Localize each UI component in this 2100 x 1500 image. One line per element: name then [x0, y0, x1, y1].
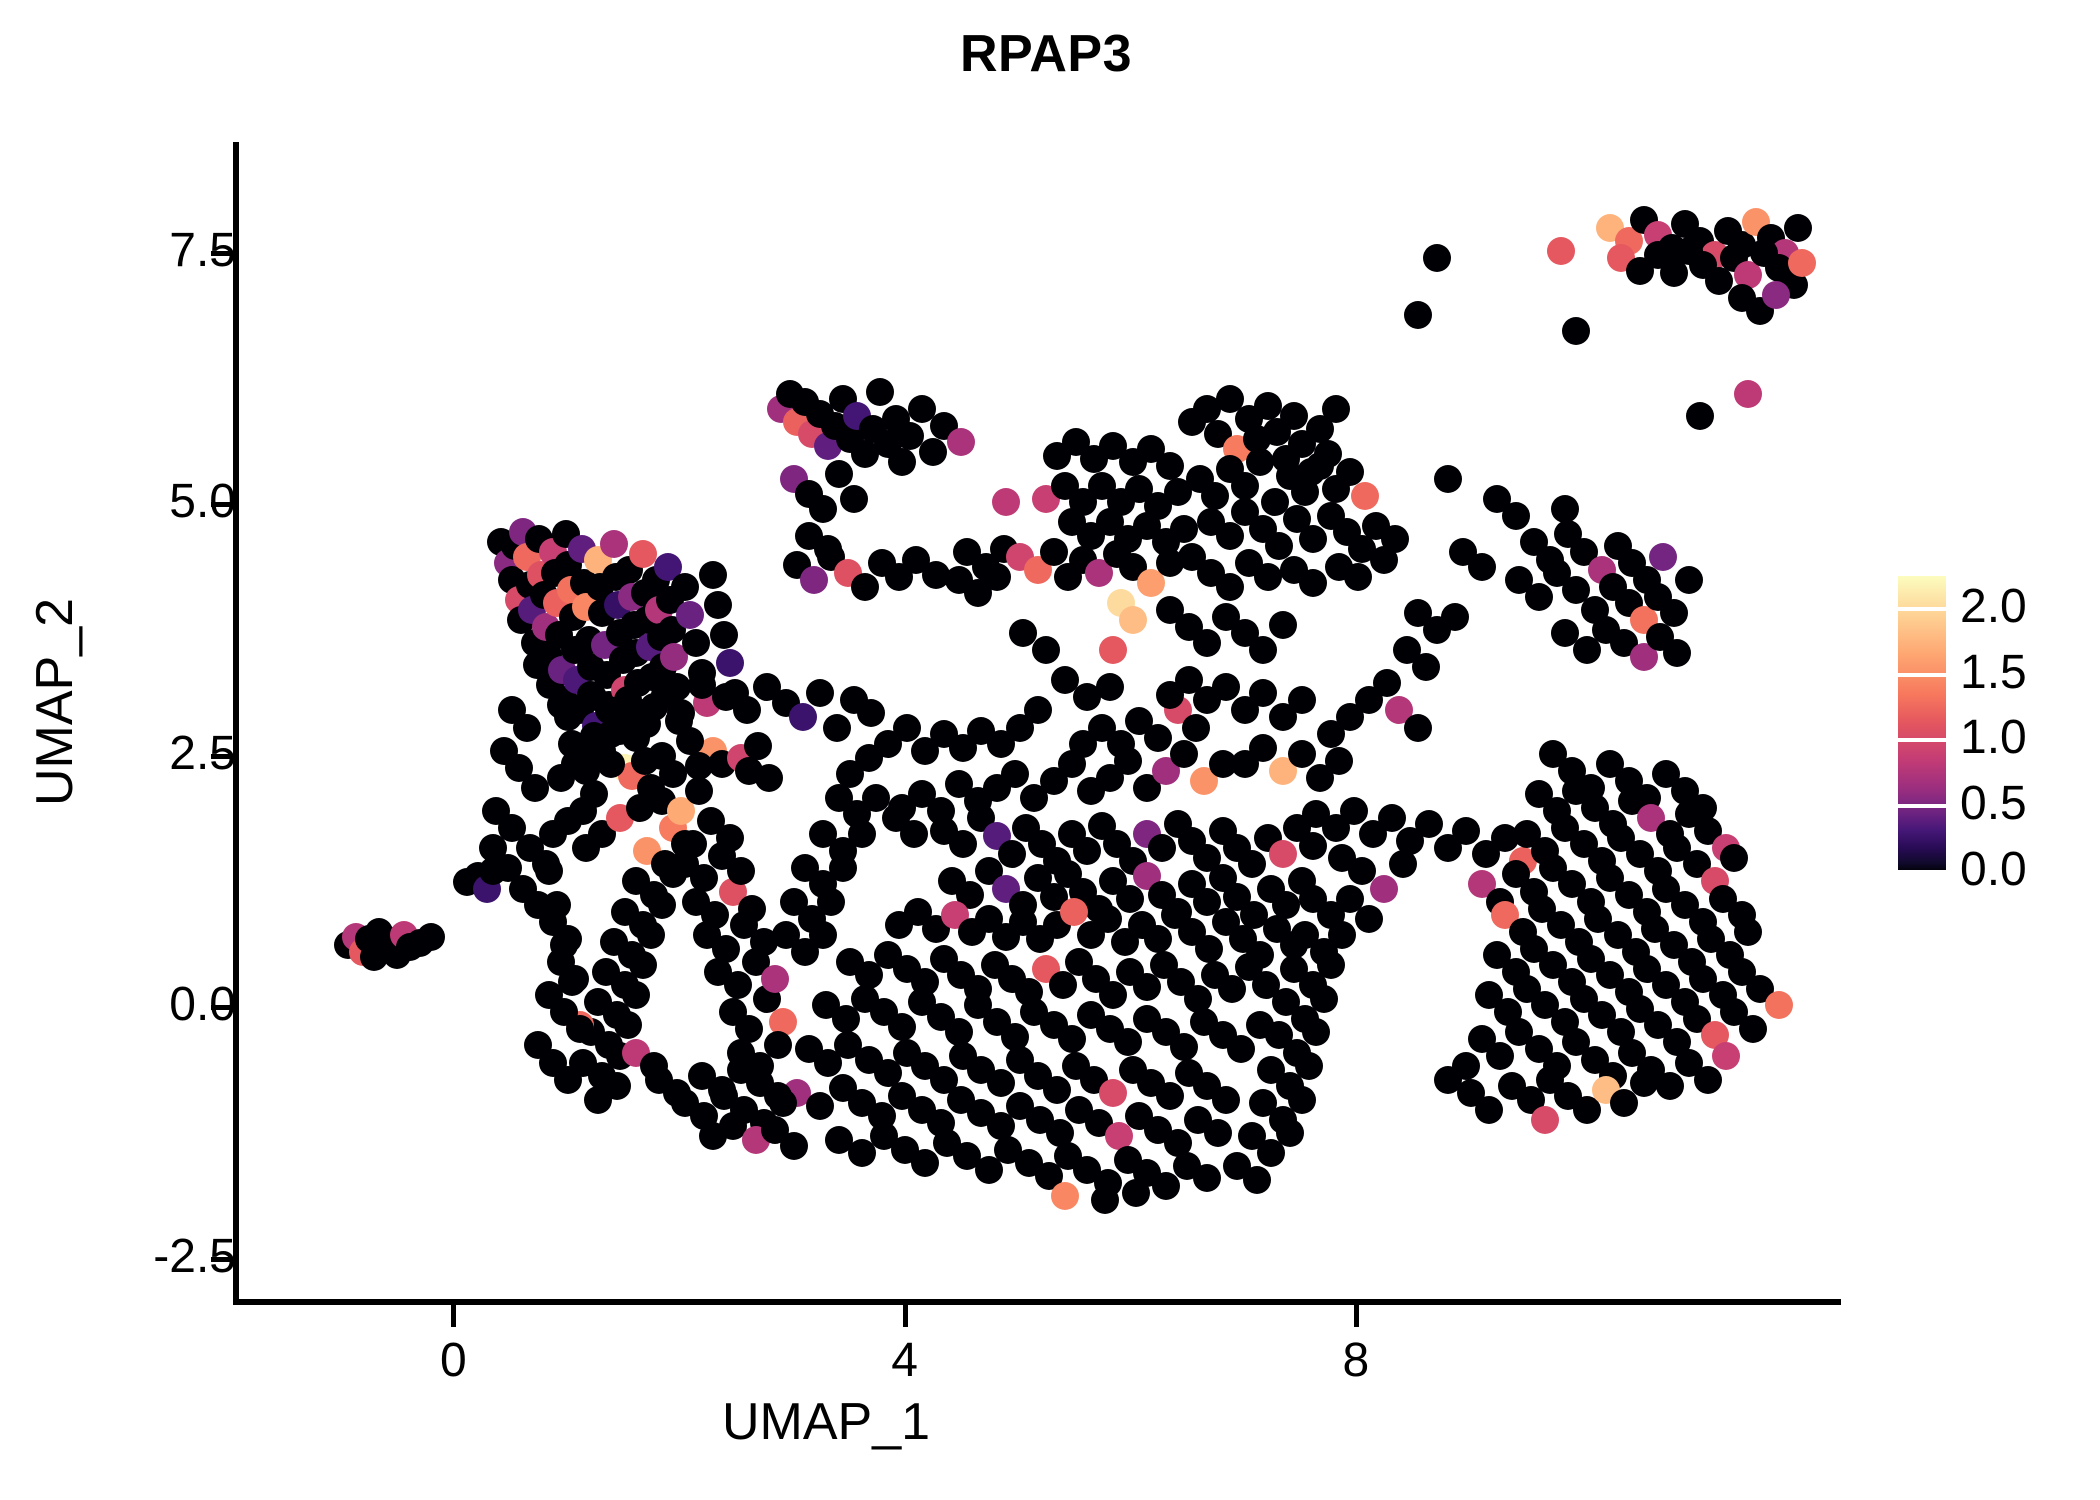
y-tick-label: 5.0 — [169, 474, 236, 529]
scatter-point — [659, 760, 687, 788]
colorbar-tick-label: 2.0 — [1960, 579, 2027, 634]
scatter-point — [1049, 971, 1077, 999]
scatter-point — [949, 830, 977, 858]
scatter-point — [1649, 543, 1677, 571]
x-tick-mark — [903, 1305, 908, 1327]
page-title: RPAP3 — [236, 24, 1856, 84]
y-tick-label: 2.5 — [169, 726, 236, 781]
scatter-point — [1170, 740, 1198, 768]
scatter-point — [866, 378, 894, 406]
scatter-point — [629, 540, 657, 568]
scatter-point — [566, 1015, 594, 1043]
scatter-point — [597, 750, 625, 778]
scatter-point — [1765, 991, 1793, 1019]
colorbar-tick-mark — [1898, 607, 1946, 611]
plot-panel — [239, 142, 1841, 1299]
scatter-point — [663, 1079, 691, 1107]
scatter-point — [1355, 905, 1383, 933]
scatter-point — [1193, 629, 1221, 657]
scatter-point — [1060, 898, 1088, 926]
scatter-point — [1288, 1086, 1316, 1114]
scatter-point — [682, 629, 710, 657]
scatter-point — [1254, 563, 1282, 591]
scatter-point — [900, 820, 928, 848]
scatter-point — [554, 1066, 582, 1094]
scatter-point — [554, 703, 582, 731]
scatter-point — [806, 679, 834, 707]
scatter-point — [561, 750, 589, 778]
x-axis-title: UMAP_1 — [236, 1392, 1416, 1452]
scatter-point — [1249, 636, 1277, 664]
scatter-point — [1058, 1025, 1086, 1053]
scatter-point — [769, 1089, 797, 1117]
scatter-point — [1348, 535, 1376, 563]
scatter-point — [1551, 495, 1579, 523]
scatter-point — [919, 438, 947, 466]
scatter-point — [676, 727, 704, 755]
scatter-point — [1310, 985, 1338, 1013]
scatter-point — [888, 448, 916, 476]
scatter-point — [1231, 472, 1259, 500]
scatter-point — [1238, 850, 1266, 878]
scatter-point — [1370, 875, 1398, 903]
scatter-point — [1040, 538, 1068, 566]
colorbar-tick-mark — [1898, 870, 1946, 874]
scatter-point — [1547, 237, 1575, 265]
scatter-point — [809, 921, 837, 949]
scatter-point — [1156, 1082, 1184, 1110]
scatter-point — [1249, 734, 1277, 762]
scatter-point — [712, 935, 740, 963]
scatter-point — [823, 714, 851, 742]
scatter-point — [1340, 797, 1368, 825]
scatter-point — [1073, 837, 1101, 865]
scatter-point — [724, 971, 752, 999]
scatter-point — [780, 1132, 808, 1160]
scatter-point — [1254, 392, 1282, 420]
scatter-point — [1317, 720, 1345, 748]
scatter-point — [1243, 1166, 1271, 1194]
scatter-point — [1299, 525, 1327, 553]
colorbar-tick-mark — [1898, 804, 1946, 808]
scatter-point — [688, 671, 716, 699]
scatter-point — [659, 860, 687, 888]
scatter-point — [1096, 673, 1124, 701]
scatter-point — [1204, 1119, 1232, 1147]
scatter-point — [1475, 1096, 1503, 1124]
scatter-point — [1212, 1086, 1240, 1114]
scatter-point — [1288, 740, 1316, 768]
scatter-point — [1032, 636, 1060, 664]
scatter-point — [1381, 525, 1409, 553]
scatter-point — [1170, 515, 1198, 543]
scatter-point — [671, 573, 699, 601]
colorbar-tick-mark — [1898, 673, 1946, 677]
scatter-point — [1656, 1072, 1684, 1100]
scatter-point — [1249, 679, 1277, 707]
scatter-point — [761, 965, 789, 993]
scatter-point — [1116, 885, 1144, 913]
scatter-point — [1246, 448, 1274, 476]
scatter-point — [1562, 317, 1590, 345]
scatter-point — [992, 488, 1020, 516]
scatter-point — [1148, 834, 1176, 862]
scatter-point — [1663, 639, 1691, 667]
scatter-point — [789, 703, 817, 731]
scatter-point — [1525, 583, 1553, 611]
scatter-point — [851, 573, 879, 601]
colorbar-gradient — [1898, 576, 1946, 872]
scatter-point — [1094, 905, 1122, 933]
scatter-point — [710, 621, 738, 649]
scatter-point — [987, 1069, 1015, 1097]
scatter-point — [1720, 844, 1748, 872]
scatter-point — [738, 895, 766, 923]
scatter-point — [614, 1011, 642, 1039]
scatter-point — [800, 566, 828, 594]
x-axis-line — [233, 1299, 1841, 1305]
scatter-point — [1325, 747, 1353, 775]
colorbar-tick-mark — [1898, 738, 1946, 742]
scatter-point — [1486, 1042, 1514, 1070]
scatter-point — [622, 981, 650, 1009]
scatter-point — [417, 923, 445, 951]
scatter-point — [1201, 482, 1229, 510]
x-tick-mark — [1354, 1305, 1359, 1327]
scatter-point — [1712, 1042, 1740, 1070]
scatter-point — [1322, 395, 1350, 423]
scatter-point — [1344, 563, 1372, 591]
scatter-point — [1660, 599, 1688, 627]
scatter-point — [716, 649, 744, 677]
scatter-point — [685, 777, 713, 805]
scatter-point — [1686, 402, 1714, 430]
scatter-point — [1107, 730, 1135, 758]
scatter-point — [888, 1013, 916, 1041]
scatter-point — [1415, 810, 1443, 838]
scatter-point — [848, 820, 876, 848]
scatter-point — [1001, 760, 1029, 788]
scatter-point — [1423, 244, 1451, 272]
scatter-point — [1328, 921, 1356, 949]
scatter-point — [1784, 214, 1812, 242]
scatter-point — [626, 794, 654, 822]
scatter-point — [1299, 832, 1327, 860]
scatter-point — [1193, 1164, 1221, 1192]
scatter-point — [1119, 606, 1147, 634]
scatter-point — [521, 774, 549, 802]
y-tick-label: 0.0 — [169, 977, 236, 1032]
scatter-point — [1156, 452, 1184, 480]
scatter-point — [764, 1031, 792, 1059]
scatter-point — [716, 824, 744, 852]
scatter-point — [600, 530, 628, 558]
scatter-point — [704, 591, 732, 619]
scatter-point — [1351, 482, 1379, 510]
scatter-point — [640, 1052, 668, 1080]
scatter-point — [1024, 696, 1052, 724]
scatter-point — [1739, 1015, 1767, 1043]
scatter-point — [727, 857, 755, 885]
scatter-point — [817, 888, 845, 916]
scatter-point — [893, 714, 921, 742]
x-tick-label: 8 — [1296, 1333, 1416, 1388]
scatter-point — [945, 566, 973, 594]
scatter-point — [580, 780, 608, 808]
scatter-point — [561, 965, 589, 993]
y-tick-label: 7.5 — [169, 223, 236, 278]
scatter-point — [701, 901, 729, 929]
scatter-point — [840, 485, 868, 513]
scatter-point — [1182, 714, 1210, 742]
x-tick-mark — [451, 1305, 456, 1327]
scatter-point — [998, 840, 1026, 868]
scatter-point — [1531, 1106, 1559, 1134]
scatter-point — [1152, 1172, 1180, 1200]
scatter-point — [1404, 714, 1432, 742]
scatter-point — [699, 561, 727, 589]
scatter-point — [927, 797, 955, 825]
scatter-point — [1788, 249, 1816, 277]
scatter-point — [947, 428, 975, 456]
scatter-point — [1441, 603, 1469, 631]
scatter-point — [1404, 301, 1432, 329]
scatter-point — [690, 864, 718, 892]
scatter-point — [1317, 951, 1345, 979]
y-tick-label: -2.5 — [153, 1229, 236, 1284]
scatter-point — [1734, 380, 1762, 408]
scatter-point — [829, 854, 857, 882]
scatter-point — [1412, 653, 1440, 681]
scatter-point — [806, 1092, 834, 1120]
colorbar-tick-label: 0.5 — [1960, 776, 2027, 831]
scatter-point — [584, 1086, 612, 1114]
scatter-point — [1434, 465, 1462, 493]
scatter-point — [1762, 281, 1790, 309]
scatter-point — [744, 732, 772, 760]
scatter-point — [1122, 1179, 1150, 1207]
scatter-point — [1144, 925, 1172, 953]
colorbar-tick-label: 1.5 — [1960, 645, 2027, 700]
scatter-point — [755, 764, 783, 792]
scatter-point — [1099, 1079, 1127, 1107]
scatter-point — [1468, 553, 1496, 581]
scatter-point — [1276, 1119, 1304, 1147]
scatter-point — [1170, 1033, 1198, 1061]
scatter-point — [1452, 817, 1480, 845]
scatter-point — [1091, 1186, 1119, 1214]
scatter-point — [911, 1149, 939, 1177]
scatter-point — [1694, 1066, 1722, 1094]
scatter-point — [1269, 840, 1297, 868]
scatter-point — [1099, 981, 1127, 1009]
scatter-point — [1043, 1076, 1071, 1104]
scatter-point — [857, 699, 885, 727]
scatter-plot-figure: RPAP3 UMAP_2 UMAP_1 -2.50.02.55.07.5 048… — [0, 0, 2100, 1500]
scatter-point — [648, 891, 676, 919]
x-tick-label: 4 — [845, 1333, 965, 1388]
y-axis-title: UMAP_2 — [25, 442, 85, 962]
scatter-point — [1675, 566, 1703, 594]
scatter-point — [1291, 478, 1319, 506]
scatter-point — [633, 710, 661, 738]
scatter-point — [1288, 686, 1316, 714]
scatter-point — [1216, 573, 1244, 601]
colorbar-tick-label: 1.0 — [1960, 710, 2027, 765]
scatter-point — [1216, 522, 1244, 550]
scatter-point — [676, 601, 704, 629]
scatter-point — [1502, 502, 1530, 530]
scatter-point — [1114, 1028, 1142, 1056]
scatter-point — [1389, 850, 1417, 878]
scatter-point — [1630, 1069, 1658, 1097]
scatter-point — [1302, 1018, 1330, 1046]
scatter-point — [1269, 611, 1297, 639]
scatter-point — [1299, 569, 1327, 597]
scatter-point — [1452, 1052, 1480, 1080]
scatter-point — [1195, 935, 1223, 963]
scatter-point — [1227, 1035, 1255, 1063]
scatter-point — [1734, 918, 1762, 946]
scatter-point — [1295, 1052, 1323, 1080]
scatter-point — [671, 830, 699, 858]
scatter-point — [825, 460, 853, 488]
scatter-point — [1099, 636, 1127, 664]
x-tick-label: 0 — [393, 1333, 513, 1388]
scatter-point — [809, 495, 837, 523]
colorbar-legend: 0.00.51.01.52.0 — [1898, 566, 2088, 896]
scatter-point — [629, 951, 657, 979]
scatter-point — [1051, 1182, 1079, 1210]
scatter-point — [1144, 724, 1172, 752]
scatter-point — [685, 752, 713, 780]
colorbar-tick-label: 0.0 — [1960, 842, 2027, 897]
scatter-point — [637, 921, 665, 949]
scatter-point — [513, 714, 541, 742]
scatter-point — [1212, 673, 1240, 701]
scatter-point — [1378, 804, 1406, 832]
scatter-point — [1280, 402, 1308, 430]
scatter-point — [733, 696, 761, 724]
scatter-point — [1164, 478, 1192, 506]
